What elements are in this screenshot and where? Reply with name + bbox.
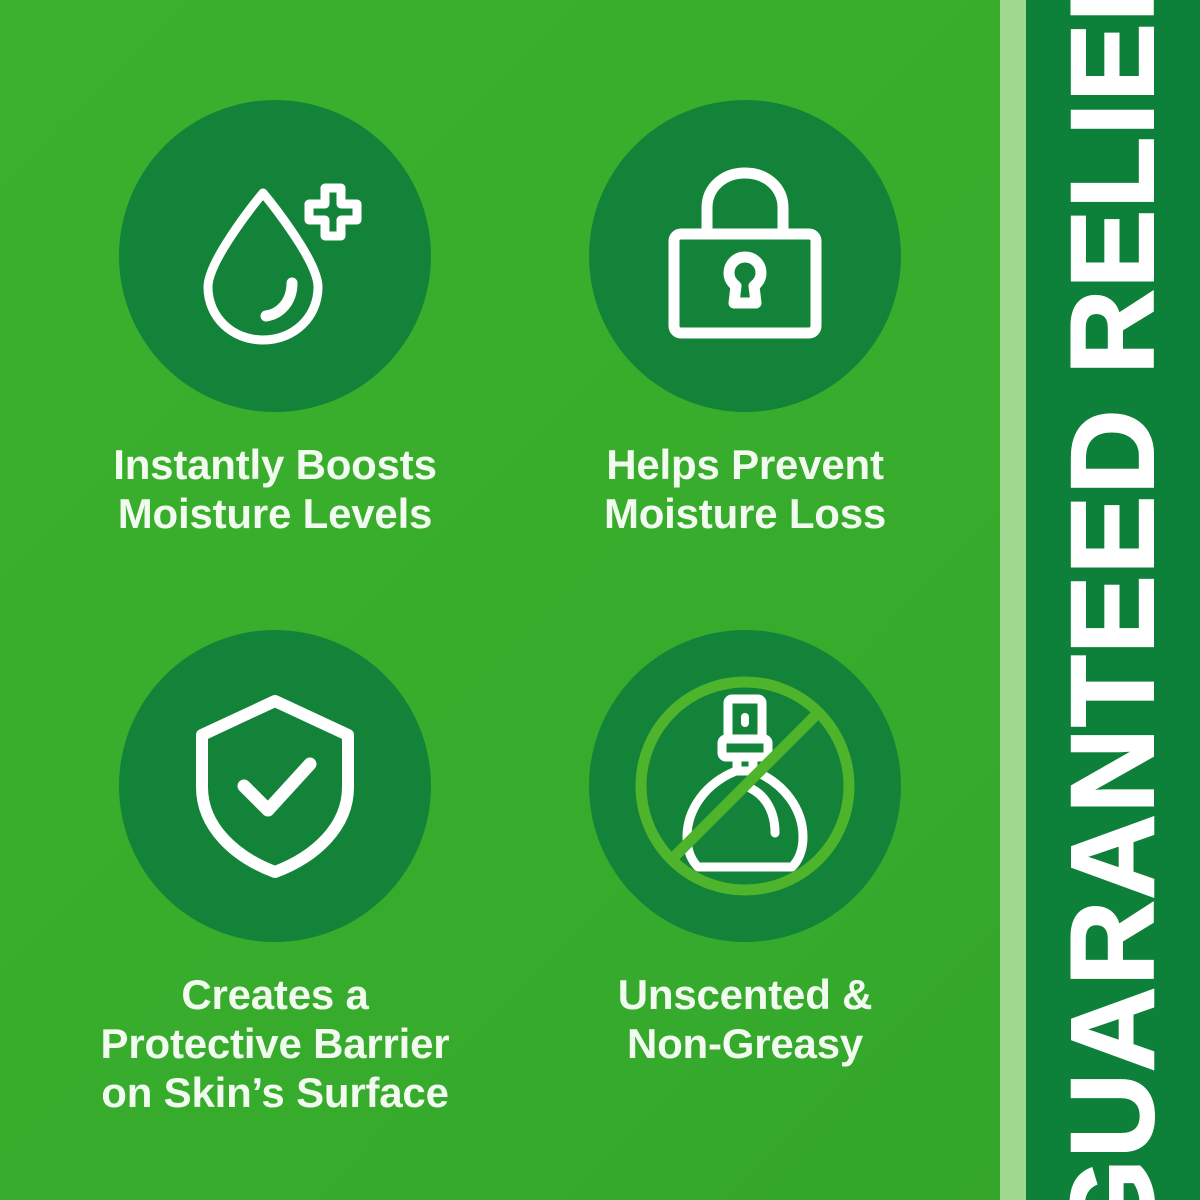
feature-label: Unscented & Non-Greasy xyxy=(510,970,980,1068)
water-drop-plus-icon xyxy=(175,156,375,356)
feature-icon-circle xyxy=(589,100,901,412)
product-benefits-infographic: Instantly Boosts Moisture Levels Helps P… xyxy=(0,0,1200,1200)
feature-instantly-boosts-moisture-levels: Instantly Boosts Moisture Levels xyxy=(40,100,510,538)
divider-strip xyxy=(1000,0,1026,1200)
guaranteed-relief-banner: GUARANTEED RELIEF xyxy=(1026,0,1200,1200)
feature-icon-circle xyxy=(589,630,901,942)
feature-icon-circle xyxy=(119,100,431,412)
feature-label: Creates a Protective Barrier on Skin’s S… xyxy=(40,970,510,1117)
feature-unscented-and-non-greasy: Unscented & Non-Greasy xyxy=(510,630,980,1068)
feature-label: Helps Prevent Moisture Loss xyxy=(510,440,980,538)
banner-title: GUARANTEED RELIEF xyxy=(1054,0,1172,1200)
shield-check-icon xyxy=(180,691,370,881)
feature-label: Instantly Boosts Moisture Levels xyxy=(40,440,510,538)
feature-icon-circle xyxy=(119,630,431,942)
feature-creates-a-protective-barrier: Creates a Protective Barrier on Skin’s S… xyxy=(40,630,510,1117)
features-grid: Instantly Boosts Moisture Levels Helps P… xyxy=(0,0,1000,1200)
no-fragrance-icon xyxy=(620,661,870,911)
feature-helps-prevent-moisture-loss: Helps Prevent Moisture Loss xyxy=(510,100,980,538)
padlock-icon xyxy=(650,161,840,351)
